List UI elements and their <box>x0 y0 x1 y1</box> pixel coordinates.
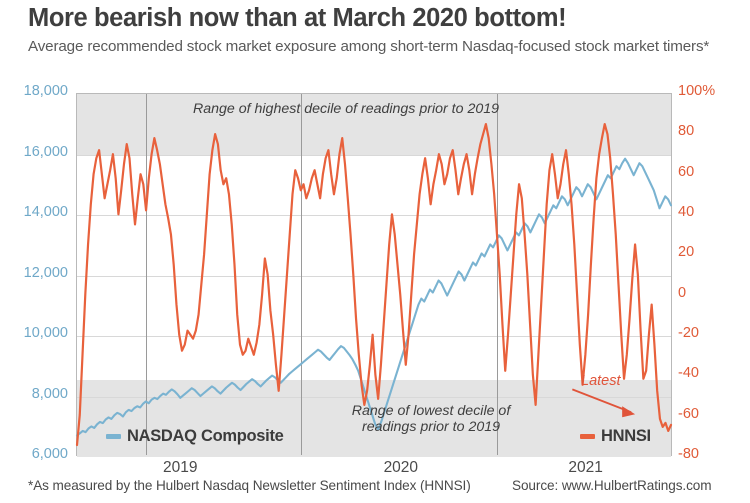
chart-header: More bearish now than at March 2020 bott… <box>28 4 728 56</box>
right-axis-tick: 100% <box>678 83 738 99</box>
right-axis-tick: 0 <box>678 285 738 301</box>
x-axis-tick: 2019 <box>120 459 240 477</box>
latest-arrow-icon <box>77 94 671 455</box>
right-axis-tick: 40 <box>678 204 738 220</box>
plot-area <box>76 93 672 456</box>
right-axis-tick: -60 <box>678 406 738 422</box>
right-axis-tick: -40 <box>678 365 738 381</box>
legend-swatch-hnnsi-icon <box>580 434 595 439</box>
chart-root: More bearish now than at March 2020 bott… <box>0 0 750 503</box>
left-axis-tick: 10,000 <box>2 325 68 341</box>
legend-item-hnnsi[interactable]: HNNSI <box>580 427 651 446</box>
footnote: *As measured by the Hulbert Nasdaq Newsl… <box>28 478 471 493</box>
legend-item-nasdaq[interactable]: NASDAQ Composite <box>106 427 284 446</box>
legend-label-nasdaq: NASDAQ Composite <box>127 427 284 446</box>
latest-callout-label: Latest <box>581 373 621 389</box>
left-axis-tick: 12,000 <box>2 265 68 281</box>
legend-label-hnnsi: HNNSI <box>601 427 651 446</box>
page-title: More bearish now than at March 2020 bott… <box>28 4 728 33</box>
x-axis-tick: 2021 <box>526 459 646 477</box>
left-axis-tick: 18,000 <box>2 83 68 99</box>
lowest-decile-band-label-line1: Range of lowest decile of <box>352 403 511 419</box>
legend-swatch-nasdaq-icon <box>106 434 121 439</box>
lowest-decile-band-label-line2: readings prior to 2019 <box>362 419 500 435</box>
left-axis-tick: 8,000 <box>2 386 68 402</box>
right-axis-tick: -20 <box>678 325 738 341</box>
right-axis-tick: 60 <box>678 164 738 180</box>
x-axis-tick: 2020 <box>341 459 461 477</box>
right-axis-tick: 80 <box>678 123 738 139</box>
left-axis-tick: 14,000 <box>2 204 68 220</box>
highest-decile-band-label: Range of highest decile of readings prio… <box>136 101 556 117</box>
chart-subtitle: Average recommended stock market exposur… <box>28 37 728 56</box>
right-axis-tick: 20 <box>678 244 738 260</box>
source-credit: Source: www.HulbertRatings.com <box>512 478 711 493</box>
right-axis-tick: -80 <box>678 446 738 462</box>
lowest-decile-band-label: Range of lowest decile of readings prior… <box>326 403 536 436</box>
left-axis-tick: 16,000 <box>2 144 68 160</box>
left-axis-tick: 6,000 <box>2 446 68 462</box>
